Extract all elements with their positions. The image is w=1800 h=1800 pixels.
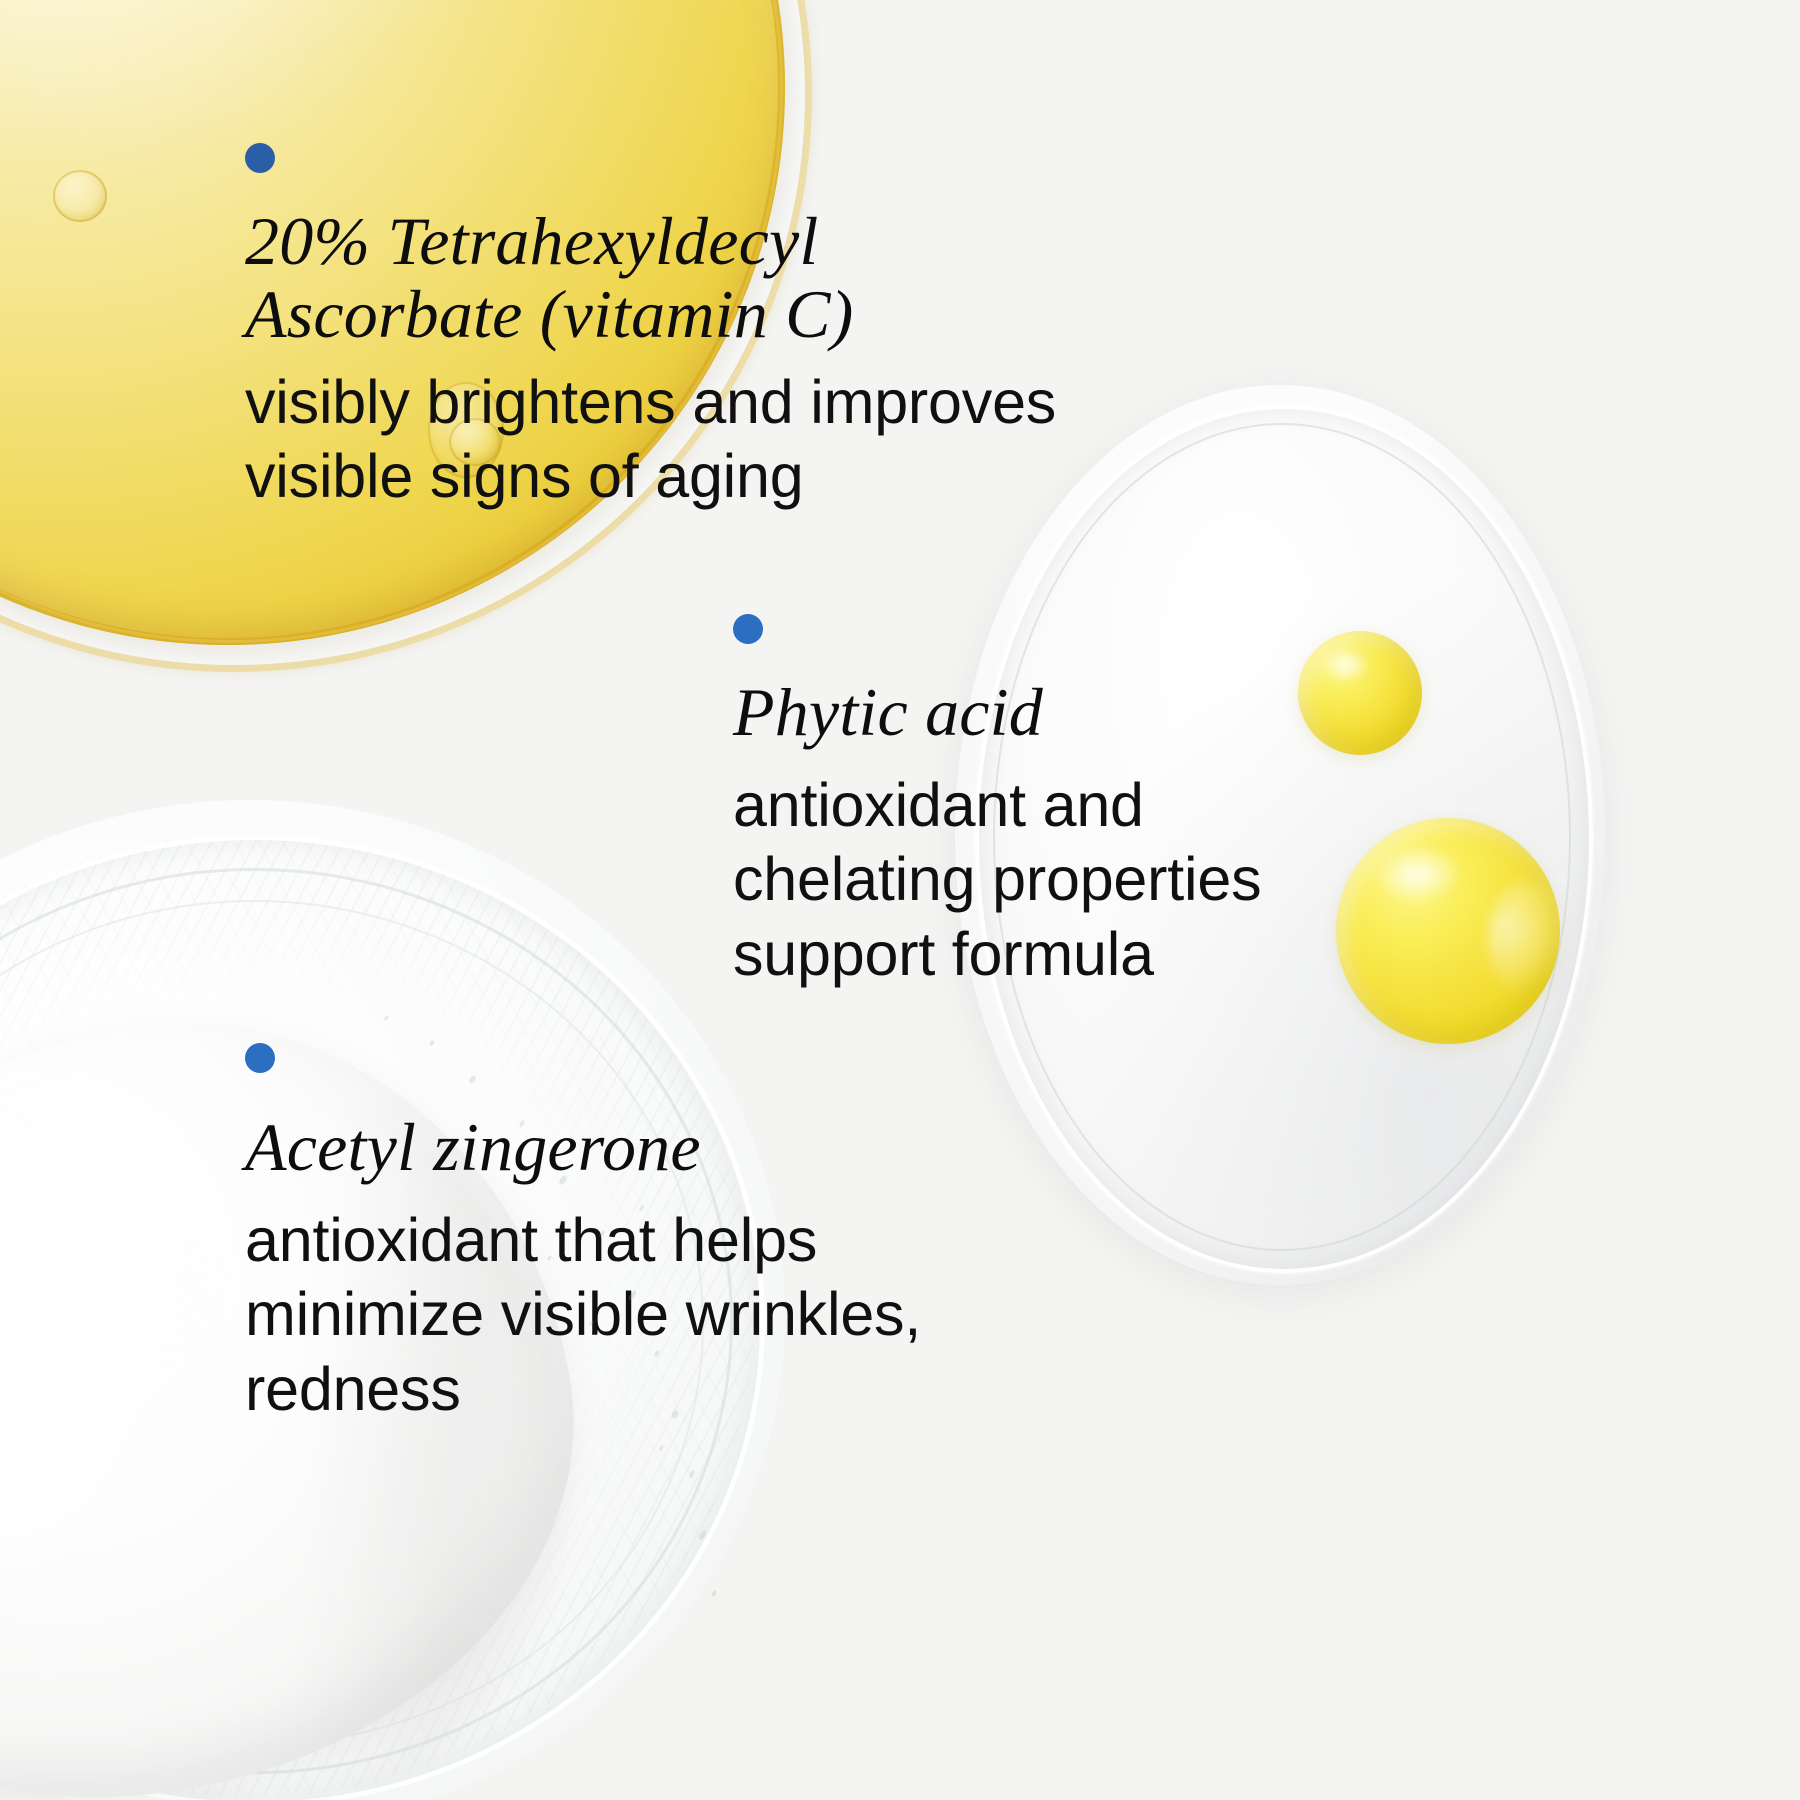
droplet-highlight (1320, 647, 1372, 683)
droplet-highlight (1372, 844, 1464, 904)
gel-speck (710, 1589, 717, 1597)
blue-dot-bullet-icon (245, 1043, 275, 1073)
gel-speck (698, 1529, 708, 1540)
ingredient-description: antioxidant that helps minimize visible … (245, 1203, 921, 1426)
gel-speck (688, 1470, 696, 1479)
product-ingredient-infographic: 20% Tetrahexyldecyl Ascorbate (vitamin C… (0, 0, 1800, 1800)
ingredient-headline: Phytic acid (733, 676, 1043, 749)
cream-swipe-highlight (0, 1071, 269, 1669)
oil-bubble (53, 170, 107, 222)
oil-petri-dish-gloss (0, 0, 560, 160)
droplet-edge-highlight (1488, 880, 1574, 1000)
ingredient-headline: 20% Tetrahexyldecyl Ascorbate (vitamin C… (245, 205, 854, 352)
blue-dot-bullet-icon (245, 143, 275, 173)
gel-speck (468, 1074, 477, 1084)
yellow-droplet-small (1298, 631, 1422, 755)
ingredient-description: visibly brightens and improves visible s… (245, 365, 1056, 514)
yellow-droplet-large (1336, 818, 1560, 1044)
gel-speck (429, 1039, 436, 1046)
blue-dot-bullet-icon (733, 614, 763, 644)
ingredient-headline: Acetyl zingerone (245, 1111, 701, 1184)
gel-speck (384, 1015, 390, 1022)
gel-speck (659, 1445, 665, 1452)
ingredient-description: antioxidant and chelating properties sup… (733, 768, 1261, 991)
